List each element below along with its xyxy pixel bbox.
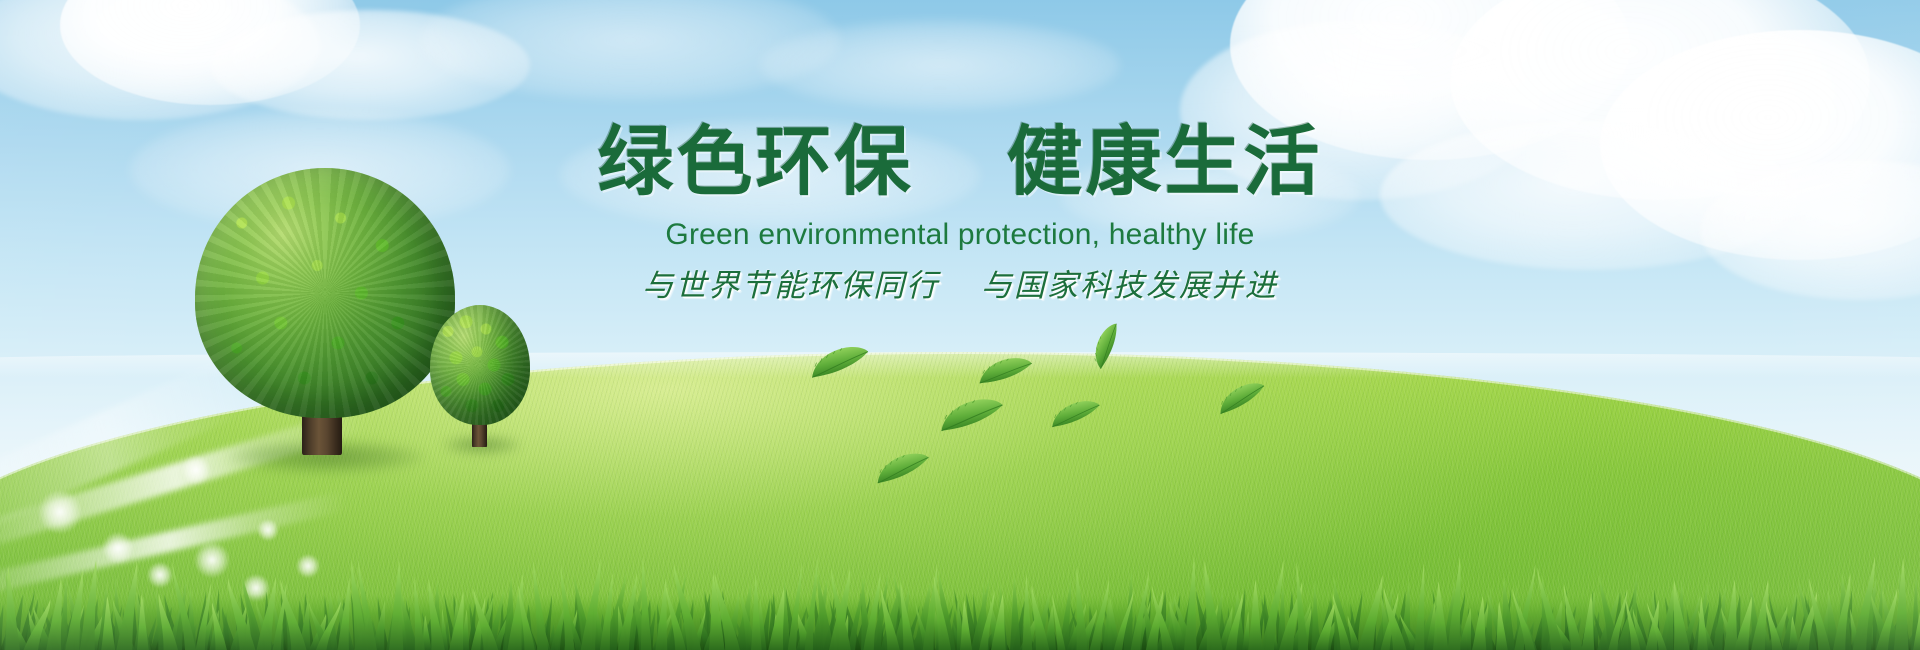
slogan-part-2: 与国家科技发展并进 [981, 268, 1278, 304]
small-deciduous-tree [430, 305, 530, 465]
eco-banner: 绿色环保 健康生活 Green environmental protection… [0, 0, 1920, 650]
headline-part-2: 健康生活 [1006, 117, 1322, 206]
grass-blades-graphic [0, 554, 1920, 650]
foreground-grass-band [0, 554, 1920, 650]
slogan-part-1: 与世界节能环保同行 [642, 268, 939, 304]
banner-text-block: 绿色环保 健康生活 Green environmental protection… [0, 122, 1920, 305]
cloud-7 [760, 20, 1120, 110]
page-title: 绿色环保 健康生活 [0, 122, 1920, 202]
slogan-chinese: 与世界节能环保同行 与国家科技发展并进 [0, 260, 1920, 305]
headline-part-1: 绿色环保 [598, 117, 914, 206]
small-canopy-leaf-detail [430, 305, 530, 425]
subtitle-english: Green environmental protection, healthy … [0, 218, 1920, 252]
small-tree-canopy [430, 305, 530, 425]
